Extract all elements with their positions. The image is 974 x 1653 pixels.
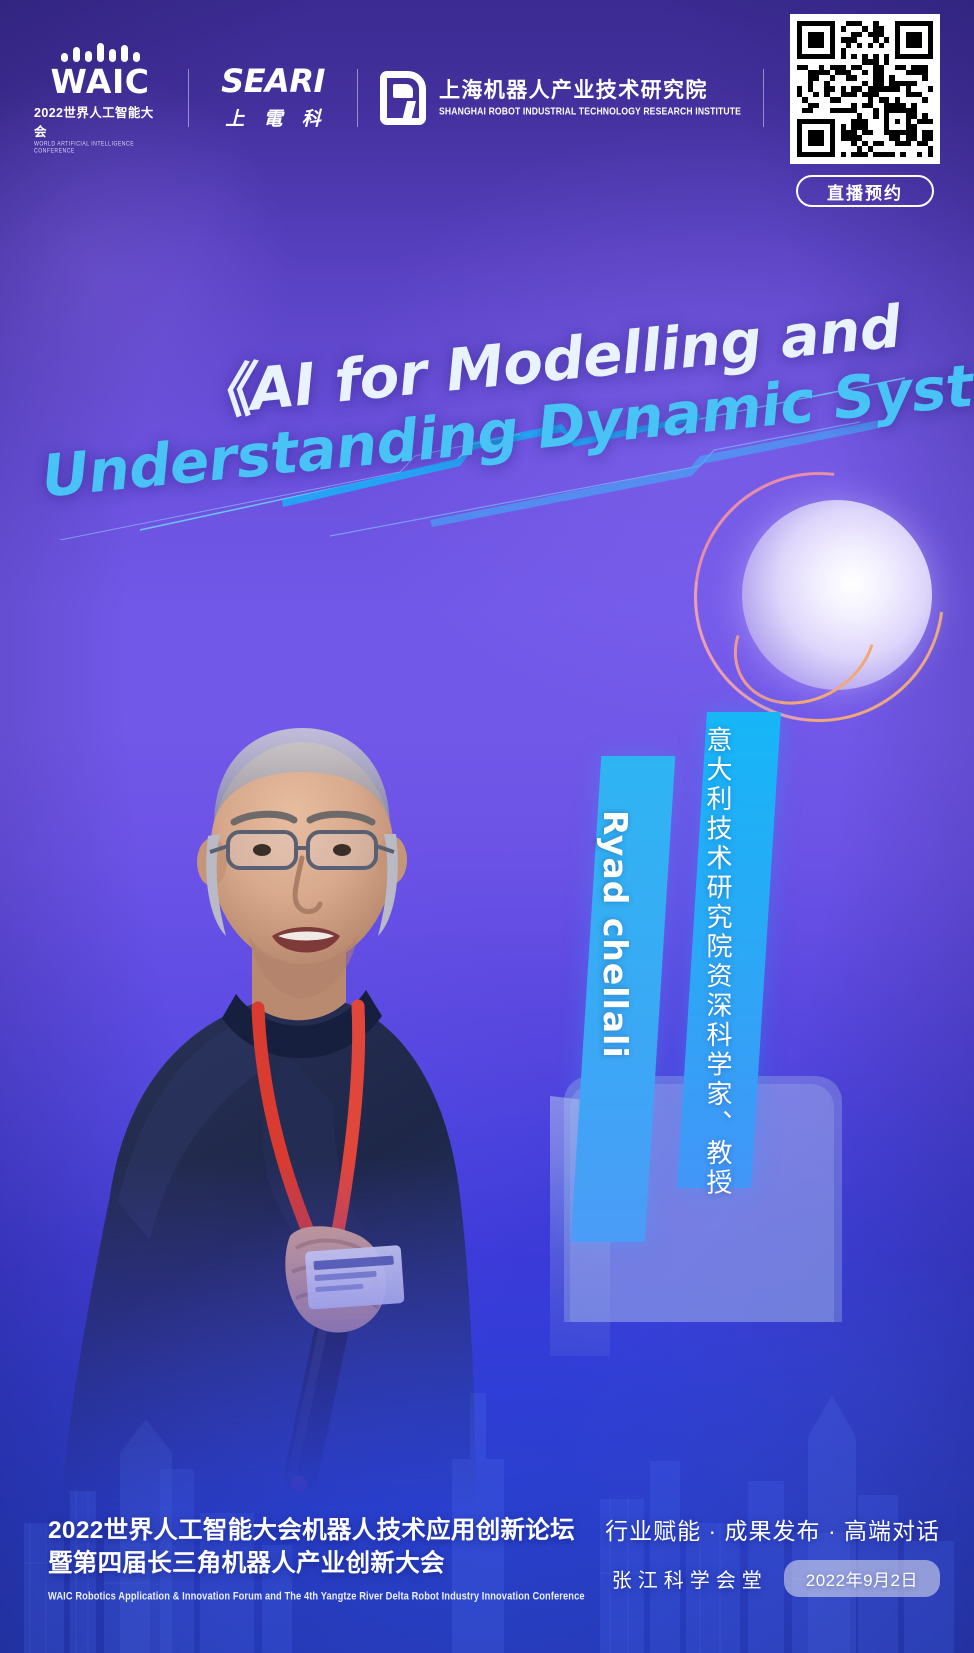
sritri-english-name: SHANGHAI ROBOT INDUSTRIAL TECHNOLOGY RES… — [439, 105, 741, 117]
poster-root: WAIC 2022世界人工智能大会 WORLD ARTIFICIAL INTEL… — [0, 0, 974, 1653]
waic-english-name: WORLD ARTIFICIAL INTELLIGENCE CONFERENCE — [34, 141, 166, 155]
footer-venue: 张江科学会堂 — [606, 1564, 768, 1593]
footer-english-subtitle: WAIC Robotics Application & Innovation F… — [48, 1590, 585, 1602]
qr-block: 直播预约 — [780, 14, 950, 207]
qr-code-icon[interactable] — [790, 14, 940, 164]
footer-left: 2022世界人工智能大会机器人技术应用创新论坛 暨第四届长三角机器人产业创新大会… — [48, 1515, 585, 1601]
logo-divider-3 — [763, 69, 764, 127]
footer: 2022世界人工智能大会机器人技术应用创新论坛 暨第四届长三角机器人产业创新大会… — [0, 1463, 974, 1653]
logo-sritri: 上海机器人产业技术研究院 SHANGHAI ROBOT INDUSTRIAL T… — [380, 71, 741, 125]
speaker-title: 意大利技术研究院资深科学家、教授 — [700, 726, 737, 1176]
logo-waic: WAIC 2022世界人工智能大会 WORLD ARTIFICIAL INTEL… — [34, 42, 166, 155]
waic-wordmark: WAIC — [51, 65, 150, 98]
footer-date-badge: 2022年9月2日 — [784, 1560, 940, 1597]
footer-right: 行业赋能 · 成果发布 · 高端对话 张江科学会堂 2022年9月2日 — [605, 1512, 940, 1597]
logo-divider-2 — [357, 69, 358, 127]
partner-logo-bar: WAIC 2022世界人工智能大会 WORLD ARTIFICIAL INTEL… — [34, 52, 894, 144]
logo-divider-1 — [188, 69, 189, 127]
sritri-chinese-name: 上海机器人产业技术研究院 — [439, 80, 741, 102]
speaker-photo — [0, 636, 610, 1506]
seari-chinese-name: 上 電 科 — [218, 104, 328, 131]
waic-chinese-name: 2022世界人工智能大会 — [34, 102, 166, 140]
footer-slogan: 行业赋能 · 成果发布 · 高端对话 — [605, 1512, 940, 1546]
footer-heading-line-1: 2022世界人工智能大会机器人技术应用创新论坛 — [48, 1515, 585, 1547]
footer-heading-line-2: 暨第四届长三角机器人产业创新大会 — [48, 1548, 585, 1580]
waic-bars-icon — [61, 42, 140, 62]
robot-r-icon — [380, 71, 426, 125]
live-reservation-button[interactable]: 直播预约 — [796, 175, 934, 207]
logo-seari: SEARI 上 電 科 — [211, 65, 335, 131]
seari-wordmark: SEARI — [221, 65, 325, 97]
speaker-name: Ryad chellali — [596, 810, 635, 1210]
